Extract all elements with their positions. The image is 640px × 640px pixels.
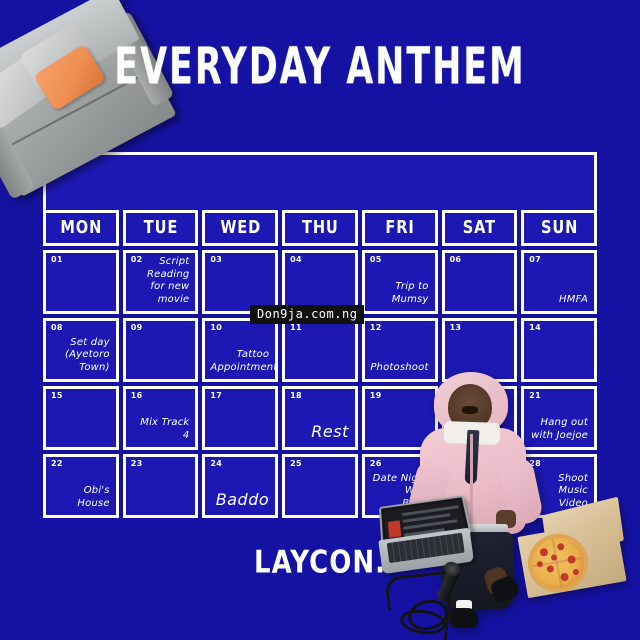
day-header-label: FRI (385, 218, 414, 239)
day-number: 01 (51, 256, 110, 264)
day-number: 09 (131, 324, 190, 332)
day-event-text: Obi's House (51, 485, 110, 510)
day-number: 03 (210, 256, 269, 264)
poster-canvas: EVERYDAY ANTHEM MONTUEWEDTHUFRISATSUN 01… (0, 0, 640, 640)
calendar-day-cell[interactable]: 01 (43, 250, 119, 314)
pizza-pepperoni (546, 565, 554, 573)
day-number: 25 (290, 460, 349, 468)
day-event-text: Script Reading for new movie (131, 256, 190, 306)
day-number: 21 (529, 392, 588, 400)
daw-track-1 (402, 505, 459, 516)
day-header-tue: TUE (123, 210, 199, 246)
day-event-text: Mix Track 4 (131, 417, 190, 442)
day-number: 23 (131, 460, 190, 468)
day-header-mon: MON (43, 210, 119, 246)
pizza-pepperoni (536, 561, 543, 568)
day-header-label: THU (302, 218, 339, 239)
day-header-label: SAT (463, 218, 496, 239)
laptop-keyboard (387, 533, 465, 563)
pizza-pepperoni (557, 543, 565, 551)
day-number: 28 (529, 460, 588, 468)
day-number: 24 (210, 460, 269, 468)
day-header-fri: FRI (362, 210, 438, 246)
day-number: 14 (529, 324, 588, 332)
day-header-label: WED (220, 218, 261, 239)
day-header-sat: SAT (442, 210, 518, 246)
calendar-day-cell[interactable]: 22Obi's House (43, 454, 119, 518)
day-header-label: TUE (143, 218, 177, 239)
calendar-day-cell[interactable]: 15 (43, 386, 119, 450)
calendar-day-cell[interactable]: 16Mix Track 4 (123, 386, 199, 450)
pizza-pepperoni (572, 569, 579, 576)
calendar-day-cell[interactable]: 10Tattoo Appointment (202, 318, 278, 382)
day-number: 10 (210, 324, 269, 332)
calendar-day-header-row: MONTUEWEDTHUFRISATSUN (43, 210, 597, 246)
person-zipper (470, 434, 473, 530)
calendar-day-cell[interactable]: 08Set day (Ayetoro Town) (43, 318, 119, 382)
day-event-text: Trip to Mumsy (370, 281, 429, 306)
day-event-text: HMFA (529, 294, 588, 307)
calendar-day-cell[interactable]: 06 (442, 250, 518, 314)
day-number: 22 (51, 460, 110, 468)
calendar-day-cell[interactable]: 11 (282, 318, 358, 382)
day-number: 07 (529, 256, 588, 264)
calendar-day-cell[interactable]: 17 (202, 386, 278, 450)
day-number: 12 (370, 324, 429, 332)
day-number: 18 (290, 392, 349, 400)
day-event-text: Tattoo Appointment (210, 349, 269, 374)
day-header-label: SUN (541, 218, 578, 239)
day-event-text: Hang out with Joejoe (529, 417, 588, 442)
calendar-day-cell[interactable]: 09 (123, 318, 199, 382)
page-title: EVERYDAY ANTHEM (10, 38, 631, 97)
day-number: 13 (450, 324, 509, 332)
day-event-text: Set day (Ayetoro Town) (51, 337, 110, 375)
day-number: 16 (131, 392, 190, 400)
day-number: 08 (51, 324, 110, 332)
calendar-day-cell[interactable]: 23 (123, 454, 199, 518)
person-mouth (462, 406, 478, 414)
microphone-photo (386, 566, 490, 640)
day-number: 06 (450, 256, 509, 264)
calendar-day-cell[interactable]: 05Trip to Mumsy (362, 250, 438, 314)
daw-clip-marker (388, 520, 401, 538)
pizza-pepperoni (567, 555, 576, 564)
calendar-day-cell[interactable]: 25 (282, 454, 358, 518)
day-header-thu: THU (282, 210, 358, 246)
site-watermark: Don9ja.com.ng (250, 305, 364, 324)
day-header-wed: WED (202, 210, 278, 246)
day-header-label: MON (60, 218, 102, 239)
day-number: 11 (290, 324, 349, 332)
day-number: 04 (290, 256, 349, 264)
calendar-day-cell[interactable]: 07HMFA (521, 250, 597, 314)
pizza-photo (518, 506, 630, 598)
day-number: 05 (370, 256, 429, 264)
calendar-day-cell[interactable]: 02Script Reading for new movie (123, 250, 199, 314)
day-event-text: Baddo (210, 490, 269, 510)
calendar-day-cell[interactable]: 24Baddo (202, 454, 278, 518)
calendar-day-cell[interactable]: 18Rest (282, 386, 358, 450)
day-event-text: Rest (290, 422, 349, 442)
pizza-pepperoni (539, 548, 548, 557)
pizza-pepperoni (560, 572, 569, 581)
day-number: 17 (210, 392, 269, 400)
day-number: 15 (51, 392, 110, 400)
day-header-sun: SUN (521, 210, 597, 246)
